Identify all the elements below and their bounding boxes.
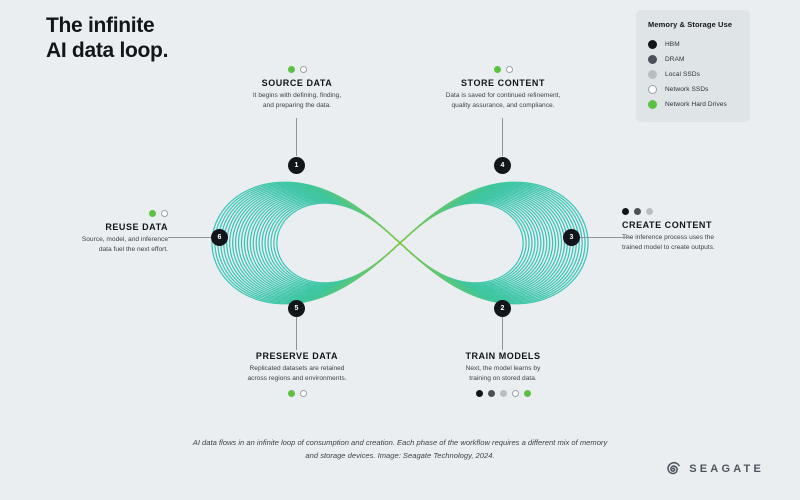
dot-network-ssds — [300, 66, 307, 73]
legend-label-network-hard-drives: Network Hard Drives — [665, 101, 727, 108]
loop-node-6[interactable]: 6 — [211, 229, 228, 246]
leader-line-2 — [502, 316, 503, 350]
leader-line-1 — [296, 118, 297, 156]
infinity-loop-diagram — [180, 128, 620, 358]
loop-node-1[interactable]: 1 — [288, 157, 305, 174]
phase-desc-source-data: It begins with defining, finding, and pr… — [202, 91, 392, 111]
legend-dot-dram — [648, 55, 657, 64]
phase-title-source-data: SOURCE DATA — [202, 78, 392, 88]
dot-local-ssds — [646, 208, 653, 215]
dot-network-ssds — [300, 390, 307, 397]
phase-store-content[interactable]: STORE CONTENT Data is saved for continue… — [408, 66, 598, 111]
legend-item-hbm: HBM — [648, 37, 740, 52]
loop-node-3[interactable]: 3 — [563, 229, 580, 246]
phase-desc-reuse-data: Source, model, and inference data fuel t… — [8, 235, 168, 255]
legend-item-network-ssds: Network SSDs — [648, 82, 740, 97]
infographic-canvas: The infinite AI data loop. Memory & Stor… — [0, 0, 800, 500]
legend-label-dram: DRAM — [665, 56, 685, 63]
phase-dots-preserve-data — [202, 390, 392, 397]
legend-label-hbm: HBM — [665, 41, 680, 48]
phase-title-reuse-data: REUSE DATA — [8, 222, 168, 232]
dot-dram — [634, 208, 641, 215]
legend-dot-network-hard-drives — [648, 100, 657, 109]
phase-title-preserve-data: PRESERVE DATA — [202, 351, 392, 361]
phase-train-models[interactable]: TRAIN MODELS Next, the model learns by t… — [408, 351, 598, 397]
phase-reuse-data[interactable]: REUSE DATA Source, model, and inference … — [8, 210, 168, 255]
legend-label-local-ssds: Local SSDs — [665, 71, 700, 78]
phase-desc-preserve-data: Replicated datasets are retained across … — [202, 364, 392, 384]
brand-name: SEAGATE — [689, 463, 764, 475]
legend-dot-network-ssds — [648, 85, 657, 94]
figure-caption: AI data flows in an infinite loop of con… — [188, 437, 612, 462]
legend-dot-local-ssds — [648, 70, 657, 79]
phase-dots-store-content — [408, 66, 598, 73]
phase-desc-create-content: The inference process uses the trained m… — [622, 233, 782, 253]
dot-network-hard-drives — [524, 390, 531, 397]
loop-node-5[interactable]: 5 — [288, 300, 305, 317]
page-title: The infinite AI data loop. — [46, 14, 168, 64]
brand-lockup: SEAGATE — [664, 460, 764, 478]
dot-hbm — [476, 390, 483, 397]
phase-dots-create-content — [622, 208, 782, 215]
dot-network-hard-drives — [149, 210, 156, 217]
leader-line-4 — [502, 118, 503, 156]
legend-dot-hbm — [648, 40, 657, 49]
dot-network-hard-drives — [494, 66, 501, 73]
phase-create-content[interactable]: CREATE CONTENT The inference process use… — [622, 208, 782, 253]
loop-node-2[interactable]: 2 — [494, 300, 511, 317]
dot-network-ssds — [506, 66, 513, 73]
phase-desc-store-content: Data is saved for continued refinement, … — [408, 91, 598, 111]
dot-dram — [488, 390, 495, 397]
legend-title: Memory & Storage Use — [648, 20, 740, 29]
dot-network-hard-drives — [288, 66, 295, 73]
phase-preserve-data[interactable]: PRESERVE DATA Replicated datasets are re… — [202, 351, 392, 397]
phase-source-data[interactable]: SOURCE DATA It begins with defining, fin… — [202, 66, 392, 111]
legend-item-network-hard-drives: Network Hard Drives — [648, 97, 740, 112]
seagate-spiral-logo-icon — [664, 460, 682, 478]
leader-line-5 — [296, 316, 297, 350]
phase-dots-reuse-data — [8, 210, 168, 217]
dot-hbm — [622, 208, 629, 215]
legend-panel: Memory & Storage Use HBM DRAM Local SSDs… — [636, 10, 750, 122]
dot-local-ssds — [500, 390, 507, 397]
loop-node-4[interactable]: 4 — [494, 157, 511, 174]
dot-network-ssds — [512, 390, 519, 397]
leader-line-3 — [580, 237, 630, 238]
dot-network-hard-drives — [288, 390, 295, 397]
phase-title-create-content: CREATE CONTENT — [622, 220, 782, 230]
dot-network-ssds — [161, 210, 168, 217]
phase-dots-train-models — [408, 390, 598, 397]
phase-title-train-models: TRAIN MODELS — [408, 351, 598, 361]
loop-strands — [212, 182, 588, 304]
phase-dots-source-data — [202, 66, 392, 73]
legend-item-local-ssds: Local SSDs — [648, 67, 740, 82]
phase-title-store-content: STORE CONTENT — [408, 78, 598, 88]
legend-label-network-ssds: Network SSDs — [665, 86, 708, 93]
phase-desc-train-models: Next, the model learns by training on st… — [408, 364, 598, 384]
legend-item-dram: DRAM — [648, 52, 740, 67]
